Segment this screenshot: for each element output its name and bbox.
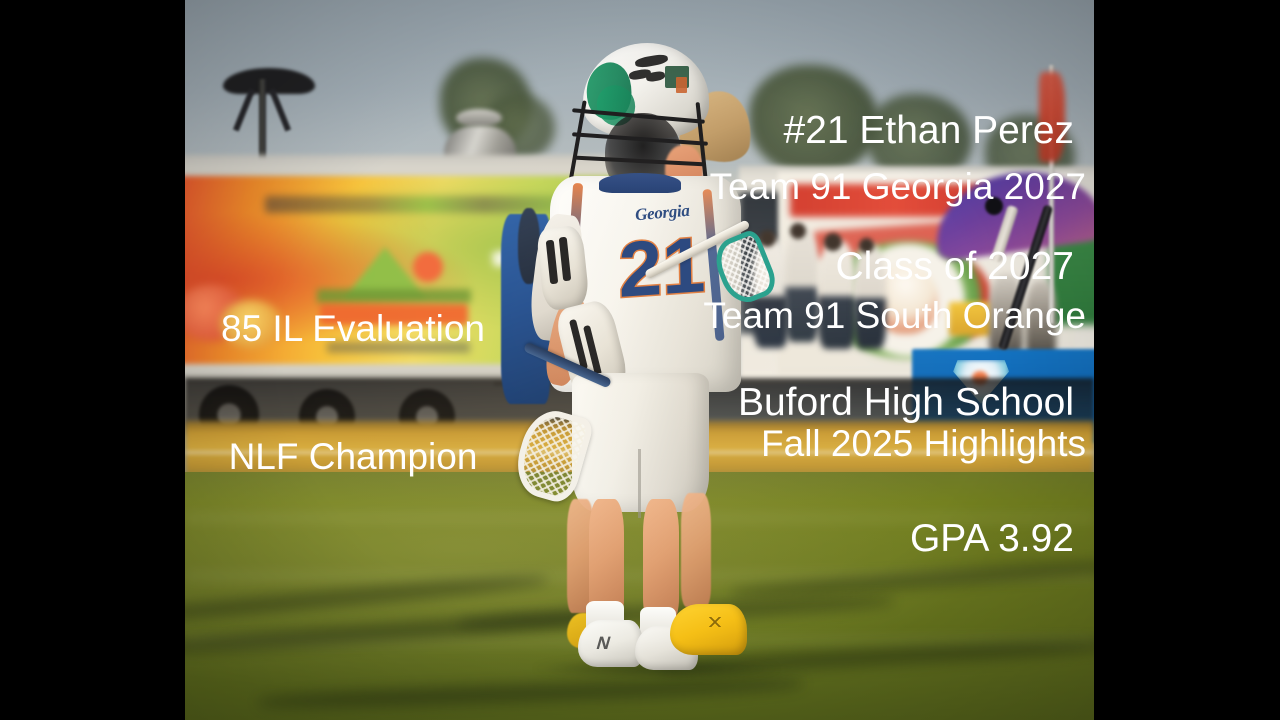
under-armour-logo-icon bbox=[709, 617, 721, 627]
new-balance-logo-icon: N bbox=[594, 634, 624, 653]
letterbox-right bbox=[1094, 0, 1280, 720]
facemask-bar bbox=[575, 156, 705, 167]
overlay-line: Team 91 Georgia 2027 bbox=[703, 166, 1086, 209]
accolades-overlay: 85 IL Evaluation NLF Champion bbox=[193, 222, 513, 565]
video-stage[interactable]: Georgia 21 N bbox=[185, 0, 1094, 720]
overlay-line: Fall 2025 Highlights bbox=[703, 423, 1086, 466]
shorts-seam bbox=[638, 449, 641, 519]
overlay-line: Team 91 South Orange bbox=[703, 295, 1086, 338]
video-frame: Georgia 21 N bbox=[0, 0, 1280, 720]
overlay-line: 85 IL Evaluation bbox=[193, 308, 513, 351]
jersey-collar bbox=[599, 173, 681, 193]
team-info-overlay: Team 91 Georgia 2027 Team 91 South Orang… bbox=[703, 80, 1086, 552]
facemask-bar bbox=[572, 132, 708, 145]
overlay-line: NLF Champion bbox=[193, 436, 513, 479]
letterbox-left bbox=[0, 0, 185, 720]
helmet-number-sticker bbox=[676, 77, 687, 92]
player-leg bbox=[643, 499, 678, 619]
facemask-bar bbox=[572, 109, 705, 125]
teammate-cleat bbox=[670, 604, 746, 655]
